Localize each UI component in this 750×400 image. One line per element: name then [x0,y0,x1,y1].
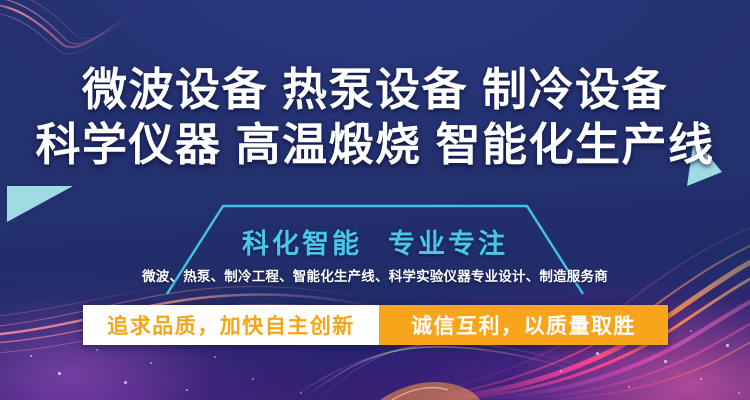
headline-line-2: 科学仪器 高温煅烧 智能化生产线 [0,117,750,172]
subtitle-left: 科化智能 [242,229,362,259]
headline-block: 微波设备 热泵设备 制冷设备 科学仪器 高温煅烧 智能化生产线 [0,62,750,172]
promo-banner: 微波设备 热泵设备 制冷设备 科学仪器 高温煅烧 智能化生产线 科化智能专业专注… [0,0,750,400]
description-block: 微波、热泵、制冷工程、智能化生产线、科学实验仪器专业设计、制造服务商 [0,265,750,286]
slogan-right-button[interactable]: 诚信互利，以质量取胜 [379,305,668,345]
subtitle-block: 科化智能专业专注 [0,222,750,261]
headline-line-1: 微波设备 热泵设备 制冷设备 [0,62,750,117]
slogan-left-button[interactable]: 追求品质，加快自主创新 [83,305,379,345]
slogan-bar: 追求品质，加快自主创新 诚信互利，以质量取胜 [83,305,668,345]
description-text: 微波、热泵、制冷工程、智能化生产线、科学实验仪器专业设计、制造服务商 [142,269,608,284]
subtitle-right: 专业专注 [388,229,508,259]
subtitle-wrapper: 科化智能专业专注 [242,229,508,259]
